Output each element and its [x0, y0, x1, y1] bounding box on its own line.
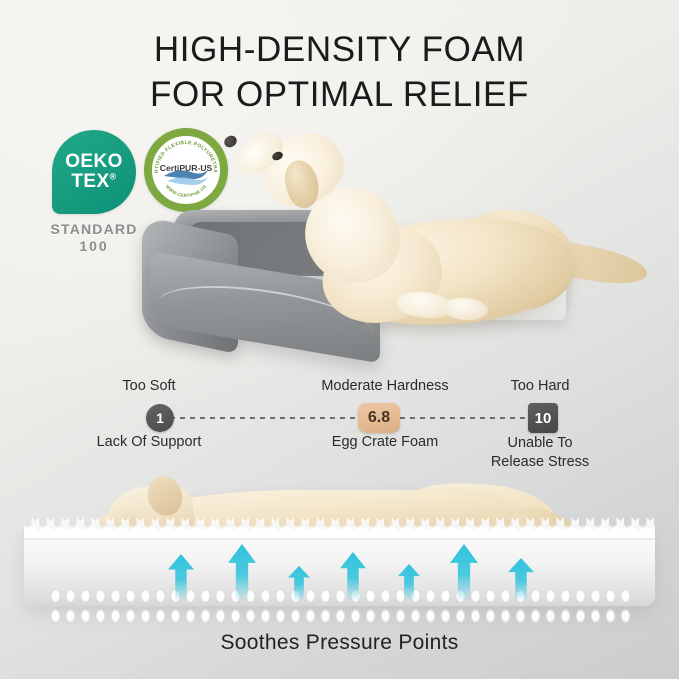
pressure-arrow — [228, 544, 256, 600]
dog-nose — [222, 133, 239, 149]
scale-track: 1 6.8 10 — [0, 404, 679, 432]
scale-dash-left — [170, 417, 358, 419]
scale-sublabel-egg-crate-foam: Egg Crate Foam — [300, 434, 470, 450]
scale-label-too-soft: Too Soft — [64, 378, 234, 394]
pressure-arrow-group — [0, 528, 679, 600]
pressure-arrow — [508, 558, 534, 600]
scale-label-too-hard: Too Hard — [455, 378, 625, 394]
scale-sublabel-unable-to-release-stress: Unable To Release Stress — [455, 434, 625, 472]
scale-sublabel-line-1: Unable To — [455, 434, 625, 453]
pressure-relief-illustration — [0, 470, 679, 630]
scale-dash-right — [400, 417, 528, 419]
pressure-arrow — [398, 564, 420, 600]
firmness-scale: Too Soft Moderate Hardness Too Hard 1 6.… — [0, 378, 679, 470]
scale-marker-max: 10 — [528, 403, 558, 433]
labrador-on-bed — [300, 166, 600, 326]
pressure-arrow — [450, 544, 478, 600]
headline-line-1: HIGH-DENSITY FOAM — [0, 28, 679, 73]
pressure-arrow — [288, 566, 310, 600]
poster-canvas: HIGH-DENSITY FOAM FOR OPTIMAL RELIEF OEK… — [0, 0, 679, 679]
product-photo — [0, 130, 679, 370]
scale-label-moderate: Moderate Hardness — [300, 378, 470, 394]
scale-marker-min: 1 — [146, 404, 174, 432]
page-title: HIGH-DENSITY FOAM FOR OPTIMAL RELIEF — [0, 28, 679, 118]
pressure-arrow — [340, 552, 366, 600]
pressure-arrow — [168, 554, 194, 600]
scale-sublabel-lack-of-support: Lack Of Support — [64, 434, 234, 450]
bottom-caption: Soothes Pressure Points — [0, 631, 679, 655]
scale-marker-value: 6.8 — [358, 403, 400, 433]
headline-line-2: FOR OPTIMAL RELIEF — [0, 73, 679, 118]
